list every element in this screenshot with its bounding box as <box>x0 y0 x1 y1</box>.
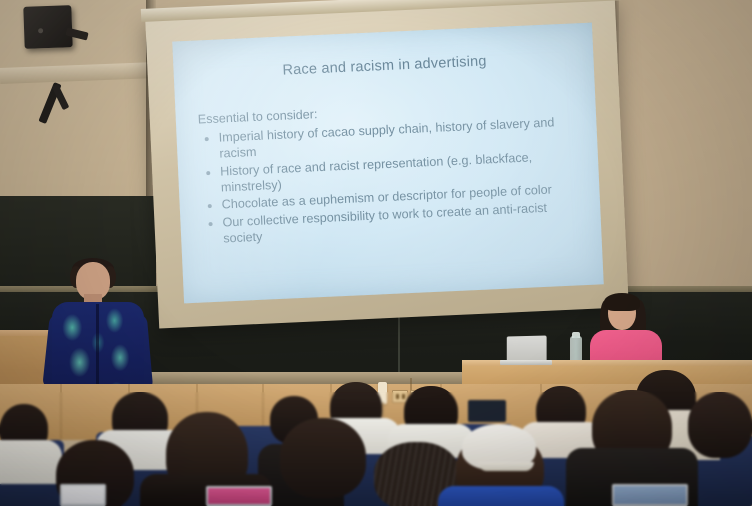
speaker-driver-dot <box>38 28 43 33</box>
presenter-laptop-screen <box>507 336 547 363</box>
panelist-hair-top <box>604 293 640 311</box>
baseball-cap-brim <box>478 462 534 471</box>
audience-laptop <box>206 486 272 506</box>
seated-panelist <box>586 296 668 368</box>
audience-laptop <box>60 484 106 506</box>
audience-shoulders <box>0 440 62 484</box>
audience-head <box>688 392 752 458</box>
audience-shoulders <box>438 486 564 506</box>
projection-screen: Race and racism in advertising Essential… <box>145 0 629 329</box>
slide-content: Race and racism in advertising Essential… <box>172 23 603 304</box>
wall-equipment-slot <box>468 400 506 422</box>
audience-laptop <box>612 484 688 506</box>
audience-head <box>280 418 366 498</box>
lecture-hall-photo: Race and racism in advertising Essential… <box>0 0 752 506</box>
presenter-laptop-base <box>500 360 552 365</box>
slide-title: Race and racism in advertising <box>195 49 573 82</box>
slide-bullet-list: Imperial history of cacao supply chain, … <box>198 114 581 248</box>
ceiling-speaker-icon <box>23 5 72 49</box>
